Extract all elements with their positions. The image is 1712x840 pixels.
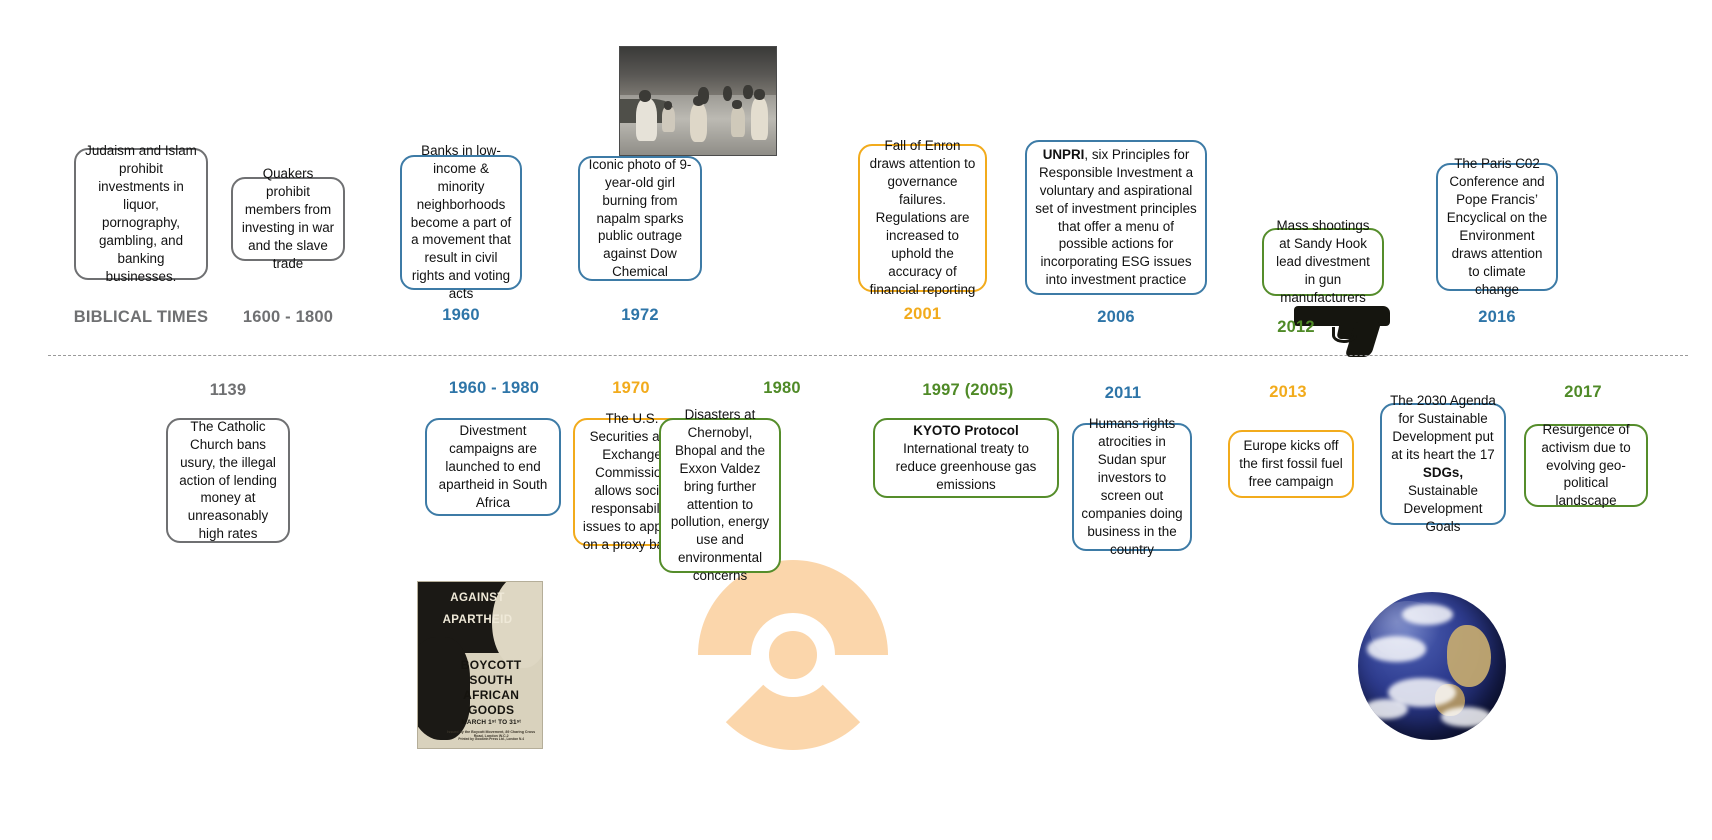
poster-boycott-4: GOODS xyxy=(443,703,540,717)
apartheid-poster: AGAINST APARTHEID BOYCOTT SOUTH AFRICAN … xyxy=(417,581,543,749)
year-label-2016: 2016 xyxy=(1436,308,1558,327)
globe-icon xyxy=(1358,592,1506,740)
event-text: The 2030 Agenda for Sustainable Developm… xyxy=(1389,392,1497,536)
event-text: Iconic photo of 9-year-old girl burning … xyxy=(587,156,693,282)
event-card-biblical-times[interactable]: Judaism and Islam prohibit investments i… xyxy=(74,148,208,280)
event-text-bold: SDGs, xyxy=(1423,465,1463,480)
globe-cloud-4 xyxy=(1364,699,1408,720)
event-card-1980[interactable]: Disasters at Chernobyl, Bhopal and the E… xyxy=(659,418,781,573)
globe-cloud-5 xyxy=(1441,707,1491,726)
event-text: Banks in low-income & minority neighborh… xyxy=(409,142,513,304)
year-label-1960: 1960 xyxy=(399,306,523,325)
event-card-2006[interactable]: UNPRI, six Principles for Responsible In… xyxy=(1025,140,1207,295)
event-text-rest: , six Principles for Responsible Investm… xyxy=(1035,147,1197,288)
poster-line-1: AGAINST xyxy=(418,592,537,604)
year-label-2001: 2001 xyxy=(858,305,987,324)
event-text: UNPRI, six Principles for Responsible In… xyxy=(1034,146,1198,290)
event-text-bold: UNPRI xyxy=(1043,147,1085,162)
event-text: Fall of Enron draws attention to governa… xyxy=(867,137,978,299)
year-label-biblical-times: BIBLICAL TIMES xyxy=(56,308,226,327)
poster-imprint-2: Printed by Goodwin Press Ltd., London N.… xyxy=(443,737,540,741)
poster-boycott-2: SOUTH xyxy=(443,673,540,687)
event-card-2012[interactable]: Mass shootings at Sandy Hook lead divest… xyxy=(1262,228,1384,296)
year-label-1997: 1997 (2005) xyxy=(884,381,1052,400)
radiation-core xyxy=(769,631,817,679)
event-text: Divestment campaigns are launched to end… xyxy=(434,422,552,512)
event-card-2017[interactable]: Resurgence of activism due to evolving g… xyxy=(1524,424,1648,507)
year-label-1600-1800: 1600 - 1800 xyxy=(206,308,370,327)
event-text: Mass shootings at Sandy Hook lead divest… xyxy=(1271,217,1375,307)
year-label-1972: 1972 xyxy=(578,306,702,325)
event-card-1960-1980[interactable]: Divestment campaigns are launched to end… xyxy=(425,418,561,516)
event-text-bold: KYOTO Protocol xyxy=(913,423,1018,438)
event-card-2016[interactable]: The Paris C02 Conference and Pope Franci… xyxy=(1436,163,1558,291)
event-card-1139[interactable]: The Catholic Church bans usury, the ille… xyxy=(166,418,290,543)
event-card-1960[interactable]: Banks in low-income & minority neighborh… xyxy=(400,155,522,290)
timeline-canvas: Judaism and Islam prohibit investments i… xyxy=(0,0,1712,840)
event-text: Resurgence of activism due to evolving g… xyxy=(1533,421,1639,511)
year-label-2012: 2012 xyxy=(1256,318,1336,337)
poster-line-2: APARTHEID xyxy=(418,614,537,626)
radiation-icon xyxy=(698,560,888,750)
event-text: Europe kicks off the first fossil fuel f… xyxy=(1237,437,1345,491)
event-text: The Paris C02 Conference and Pope Franci… xyxy=(1445,155,1549,299)
timeline-divider xyxy=(48,355,1688,356)
event-text-rest: Sustainable Development Goals xyxy=(1404,483,1483,534)
year-label-2013: 2013 xyxy=(1233,383,1343,402)
event-card-1997[interactable]: KYOTO ProtocolInternational treaty to re… xyxy=(873,418,1059,498)
year-label-1139: 1139 xyxy=(167,381,289,400)
event-card-2001[interactable]: Fall of Enron draws attention to governa… xyxy=(858,144,987,292)
event-text: Quakers prohibit members from investing … xyxy=(240,165,336,273)
poster-dates: MARCH 1ˢᵗ TO 31ˢᵗ xyxy=(443,719,540,726)
year-label-1970: 1970 xyxy=(576,379,686,398)
globe-sheen xyxy=(1370,601,1447,660)
year-label-2017: 2017 xyxy=(1528,383,1638,402)
year-label-1980: 1980 xyxy=(726,379,838,398)
event-text: Judaism and Islam prohibit investments i… xyxy=(83,142,199,286)
poster-boycott-3: AFRICAN xyxy=(443,688,540,702)
year-label-2006: 2006 xyxy=(1025,308,1207,327)
event-text-lead: The 2030 Agenda for Sustainable Developm… xyxy=(1390,393,1496,462)
event-text: The Catholic Church bans usury, the ille… xyxy=(175,418,281,544)
event-text: KYOTO ProtocolInternational treaty to re… xyxy=(882,422,1050,494)
event-text: Humans rights atrocities in Sudan spur i… xyxy=(1081,415,1183,559)
event-text: Disasters at Chernobyl, Bhopal and the E… xyxy=(668,406,772,586)
event-card-2030-agenda[interactable]: The 2030 Agenda for Sustainable Developm… xyxy=(1380,403,1506,525)
poster-boycott-1: BOYCOTT xyxy=(443,658,540,672)
napalm-photo xyxy=(619,46,777,156)
event-card-2013[interactable]: Europe kicks off the first fossil fuel f… xyxy=(1228,430,1354,498)
year-label-1960-1980: 1960 - 1980 xyxy=(414,379,574,398)
year-label-2011: 2011 xyxy=(1068,384,1178,403)
event-card-1600-1800[interactable]: Quakers prohibit members from investing … xyxy=(231,177,345,261)
globe-landmass-africa xyxy=(1447,625,1491,687)
event-card-1972[interactable]: Iconic photo of 9-year-old girl burning … xyxy=(578,156,702,281)
event-text-rest: International treaty to reduce greenhous… xyxy=(896,441,1037,492)
event-card-2011[interactable]: Humans rights atrocities in Sudan spur i… xyxy=(1072,423,1192,551)
